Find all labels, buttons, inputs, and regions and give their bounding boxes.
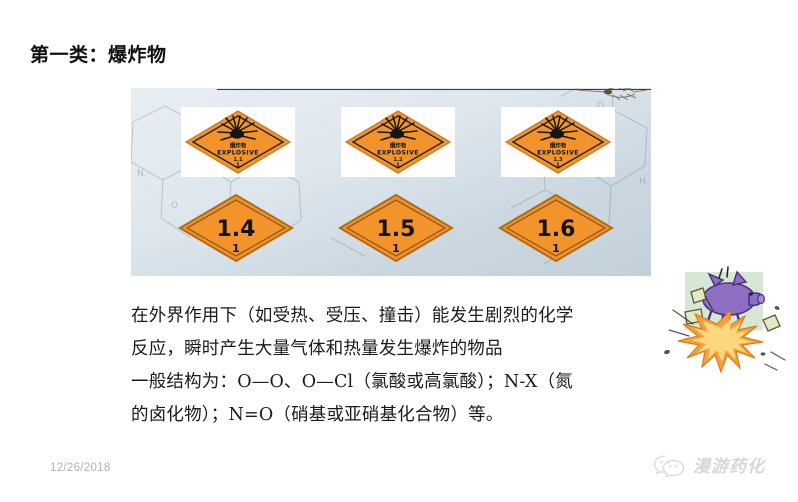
body-line: 在外界作用下（如受热、受压、撞击）能发生剧烈的化学	[131, 300, 676, 333]
hazard-label-tile: 爆炸物 EXPLOSIVE 1.3 1	[501, 107, 615, 177]
hazard-label-tile: 爆炸物 EXPLOSIVE 1.2 1	[341, 107, 455, 177]
label-english-text: EXPLOSIVE	[537, 150, 579, 157]
label-english-text: EXPLOSIVE	[217, 150, 259, 157]
explosive-label-1-5: 1.5 1	[337, 192, 455, 264]
svg-text:N: N	[137, 169, 144, 179]
bird-streak-icon	[575, 88, 649, 105]
label-english-text: EXPLOSIVE	[377, 150, 419, 157]
hazard-label-tile: 1.4 1	[177, 192, 295, 269]
body-text-block: 在外界作用下（如受热、受压、撞击）能发生剧烈的化学 反应，瞬时产生大量气体和热量…	[131, 300, 676, 432]
hazard-label-tile: 爆炸物 EXPLOSIVE 1.1 1	[181, 107, 295, 177]
explosive-label-1-4: 1.4 1	[177, 192, 295, 264]
label-chinese-text: 爆炸物	[390, 142, 407, 150]
label-class-number: 1	[392, 242, 400, 255]
hazard-label-tile: 1.6 1	[497, 192, 615, 269]
explosive-label-1-3: 爆炸物 EXPLOSIVE 1.3 1	[504, 109, 612, 175]
label-chinese-text: 爆炸物	[550, 142, 567, 150]
date-stamp: 12/26/2018	[50, 462, 111, 474]
label-division-text: 1.6	[537, 217, 576, 242]
explosive-label-1-1: 爆炸物 EXPLOSIVE 1.1 1	[184, 109, 292, 175]
body-line: 的卤化物）；N=O（硝基或亚硝基化合物）等。	[131, 399, 676, 432]
label-chinese-text: 爆炸物	[230, 142, 247, 150]
body-line: 一般结构为：O—O、O—Cl（氯酸或高氯酸）；N-X（氮	[131, 366, 676, 399]
explosive-label-1-2: 爆炸物 EXPLOSIVE 1.2 1	[344, 109, 452, 175]
watermark: 漫游药化	[652, 452, 765, 477]
label-class-number: 1	[236, 163, 240, 169]
exploding-piggy-bank-clipart	[645, 266, 795, 374]
page-title: 第一类：爆炸物	[30, 40, 167, 67]
hazard-label-tile: 1.5 1	[337, 192, 455, 269]
body-line: 反应，瞬时产生大量气体和热量发生爆炸的物品	[131, 333, 676, 366]
svg-text:H: H	[639, 177, 646, 187]
label-division-text: 1.5	[377, 217, 416, 242]
explosive-label-1-6: 1.6 1	[497, 192, 615, 264]
label-class-number: 1	[396, 163, 400, 169]
wechat-icon	[652, 453, 686, 477]
hazard-label-figure: N O H N O N H 爆	[131, 88, 651, 276]
label-class-number: 1	[232, 242, 240, 255]
label-class-number: 1	[552, 242, 560, 255]
label-division-text: 1.4	[217, 217, 256, 242]
label-class-number: 1	[556, 163, 560, 169]
watermark-text: 漫游药化	[693, 452, 765, 477]
